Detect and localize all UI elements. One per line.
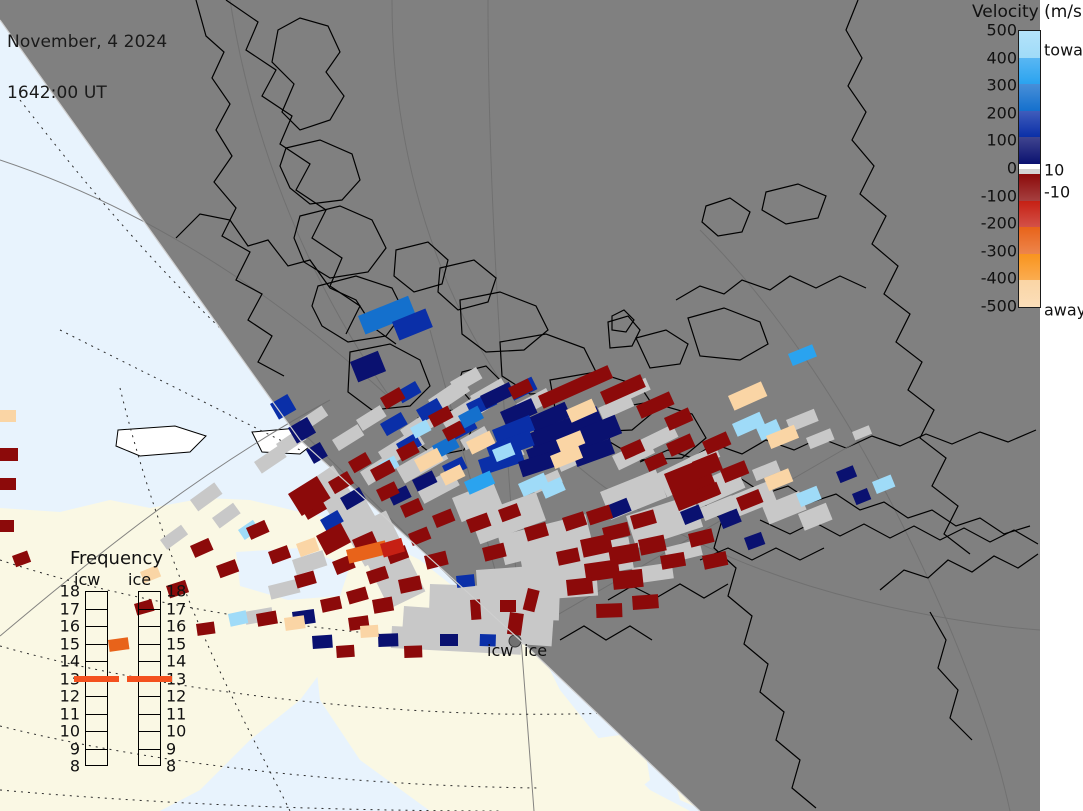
colorbar-gradient [1018,30,1041,308]
timestamp-date: November, 4 2024 [7,34,167,51]
frequency-tick-left-8: 8 [70,757,80,776]
colorbar-note-toward: toward [1044,41,1083,60]
frequency-legend: Frequency icw ice 1818171716161515141413… [52,548,192,788]
frequency-tick-right-10: 10 [166,722,186,741]
frequency-segment-ice-3 [139,645,160,663]
frequency-legend-title: Frequency [70,548,163,569]
frequency-segment-ice-0 [139,592,160,610]
colorbar-label-positive-threshold: 10 [1044,161,1064,180]
colorbar-tick--500: -500 [981,297,1017,316]
frequency-segment-ice-1 [139,610,160,628]
colorbar-tick--400: -400 [981,269,1017,288]
colorbar-band-5 [1019,174,1040,201]
velocity-colorbar-legend: Velocity (m/s) 5004003002001000-100-200-… [962,0,1083,340]
frequency-tick-left-17: 17 [60,599,80,618]
frequency-segment-icw-9 [86,750,107,768]
colorbar-band-7 [1019,227,1040,254]
colorbar-band-9 [1019,280,1040,307]
frequency-segment-ice-5 [139,680,160,698]
frequency-marker-icw [74,676,119,682]
colorbar-title: Velocity (m/s) [972,2,1083,22]
timestamp-time: 1642:00 UT [7,85,167,102]
colorbar-tick--100: -100 [981,186,1017,205]
colorbar-band-8 [1019,254,1040,281]
frequency-tick-right-12: 12 [166,687,186,706]
colorbar-tick--300: -300 [981,241,1017,260]
frequency-tick-left-14: 14 [60,652,80,671]
frequency-tick-left-12: 12 [60,687,80,706]
frequency-segment-icw-7 [86,715,107,733]
site-label-icw: icw [487,641,513,660]
frequency-tick-right-11: 11 [166,704,186,723]
frequency-column-label-ice: ice [128,570,151,589]
frequency-tick-right-17: 17 [166,599,186,618]
frequency-segment-ice-7 [139,715,160,733]
colorbar-band-2 [1019,84,1040,111]
frequency-tick-right-8: 8 [166,757,176,776]
frequency-tick-right-14: 14 [166,652,186,671]
colorbar-tick-400: 400 [986,48,1017,67]
timestamp: November, 4 2024 1642:00 UT [7,0,167,136]
frequency-tick-left-18: 18 [60,582,80,601]
colorbar-label-negative-threshold: -10 [1044,183,1070,202]
frequency-segment-icw-3 [86,645,107,663]
frequency-tick-left-10: 10 [60,722,80,741]
colorbar-tick-0: 0 [1007,159,1017,178]
frequency-segment-icw-2 [86,627,107,645]
frequency-tick-right-15: 15 [166,634,186,653]
colorbar-band-3 [1019,111,1040,138]
colorbar-tick-100: 100 [986,131,1017,150]
frequency-segment-icw-0 [86,592,107,610]
frequency-tick-left-11: 11 [60,704,80,723]
frequency-segment-ice-9 [139,750,160,768]
site-label-ice: ice [524,641,547,660]
colorbar-band-4 [1019,137,1040,164]
colorbar-tick-500: 500 [986,21,1017,40]
frequency-tick-left-16: 16 [60,617,80,636]
frequency-marker-ice [127,676,172,682]
frequency-segment-icw-5 [86,680,107,698]
frequency-tick-right-9: 9 [166,739,176,758]
frequency-tick-right-16: 16 [166,617,186,636]
frequency-segment-icw-6 [86,697,107,715]
colorbar-zero-band [1019,164,1040,174]
frequency-segment-ice-2 [139,627,160,645]
frequency-tick-left-9: 9 [70,739,80,758]
colorbar-band-1 [1019,58,1040,85]
colorbar-tick--200: -200 [981,214,1017,233]
colorbar-tick-200: 200 [986,103,1017,122]
colorbar-tick-300: 300 [986,76,1017,95]
frequency-tick-left-15: 15 [60,634,80,653]
frequency-segment-icw-1 [86,610,107,628]
colorbar-note-away: away [1044,301,1083,320]
colorbar-band-0 [1019,31,1040,58]
frequency-segment-ice-6 [139,697,160,715]
frequency-segment-icw-8 [86,732,107,750]
colorbar-band-6 [1019,201,1040,228]
frequency-tick-right-18: 18 [166,582,186,601]
radar-map-page: icw ice November, 4 2024 1642:00 UT Velo… [0,0,1083,811]
frequency-segment-ice-8 [139,732,160,750]
